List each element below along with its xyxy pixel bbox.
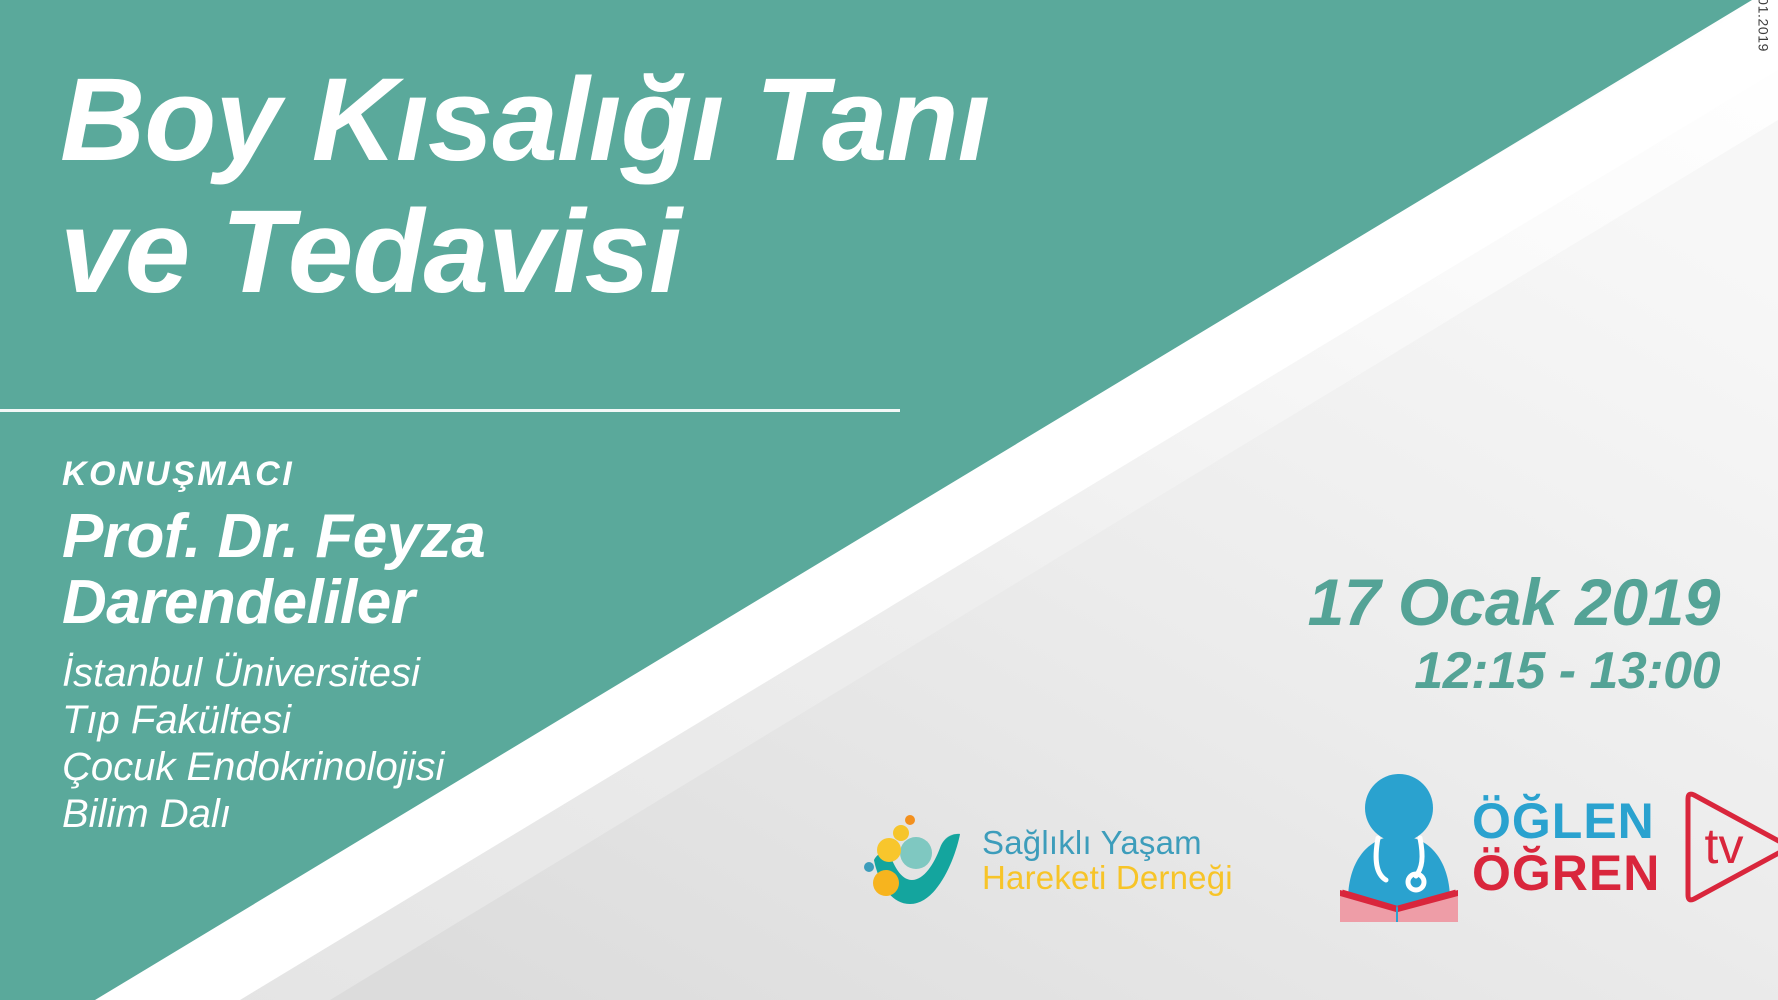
bowl-with-bubbles-icon [860,812,972,908]
title-line-1: Boy Kısalığı Tanı [60,54,1240,186]
logo-oglen-ogren-tv[interactable]: ÖĞLEN ÖĞREN tv [1340,772,1778,922]
event-time: 12:15 - 13:00 [1308,641,1720,702]
poster-title: Boy Kısalığı Tanı ve Tedavisi [60,54,1240,318]
speaker-affiliation: İstanbul Üniversitesi Tıp Fakültesi Çocu… [62,650,842,839]
affiliation-line-1: İstanbul Üniversitesi [62,650,842,697]
oglen-ogren-wordmark: ÖĞLEN ÖĞREN [1472,797,1660,898]
logo-ogren-text: ÖĞREN [1472,849,1660,898]
event-date: 17 Ocak 2019 [1308,568,1720,637]
corner-reference-code: OMN-02-01.2019 [1756,0,1772,52]
speaker-name: Prof. Dr. Feyza Darendeliler [62,504,842,635]
title-line-2: ve Tedavisi [60,186,1240,318]
affiliation-line-2: Tıp Fakültesi [62,697,842,744]
event-datetime: 17 Ocak 2019 12:15 - 13:00 [1308,568,1720,703]
affiliation-line-4: Bilim Dalı [62,791,842,838]
logo-oglen-text: ÖĞLEN [1472,797,1660,846]
logo-line-2: Hareketi Derneği [982,861,1233,894]
speaker-name-line-2: Darendeliler [62,570,842,636]
doctor-reading-book-icon [1340,772,1458,922]
logo-line-1: Sağlıklı Yaşam [982,826,1233,859]
title-divider [0,409,900,412]
speaker-block: KONUŞMACI Prof. Dr. Feyza Darendeliler İ… [62,455,842,838]
logo-saglikli-yasam[interactable]: Sağlıklı Yaşam Hareketi Derneği [860,812,1233,908]
tv-label: tv [1705,818,1744,874]
play-triangle-tv-icon: tv [1678,783,1778,911]
speaker-name-line-1: Prof. Dr. Feyza [62,504,842,570]
poster-canvas: OMN-02-01.2019 Boy Kısalığı Tanı ve Teda… [0,0,1778,1000]
affiliation-line-3: Çocuk Endokrinolojisi [62,744,842,791]
saglikli-yasam-wordmark: Sağlıklı Yaşam Hareketi Derneği [982,826,1233,894]
speaker-kicker: KONUŞMACI [62,455,842,494]
